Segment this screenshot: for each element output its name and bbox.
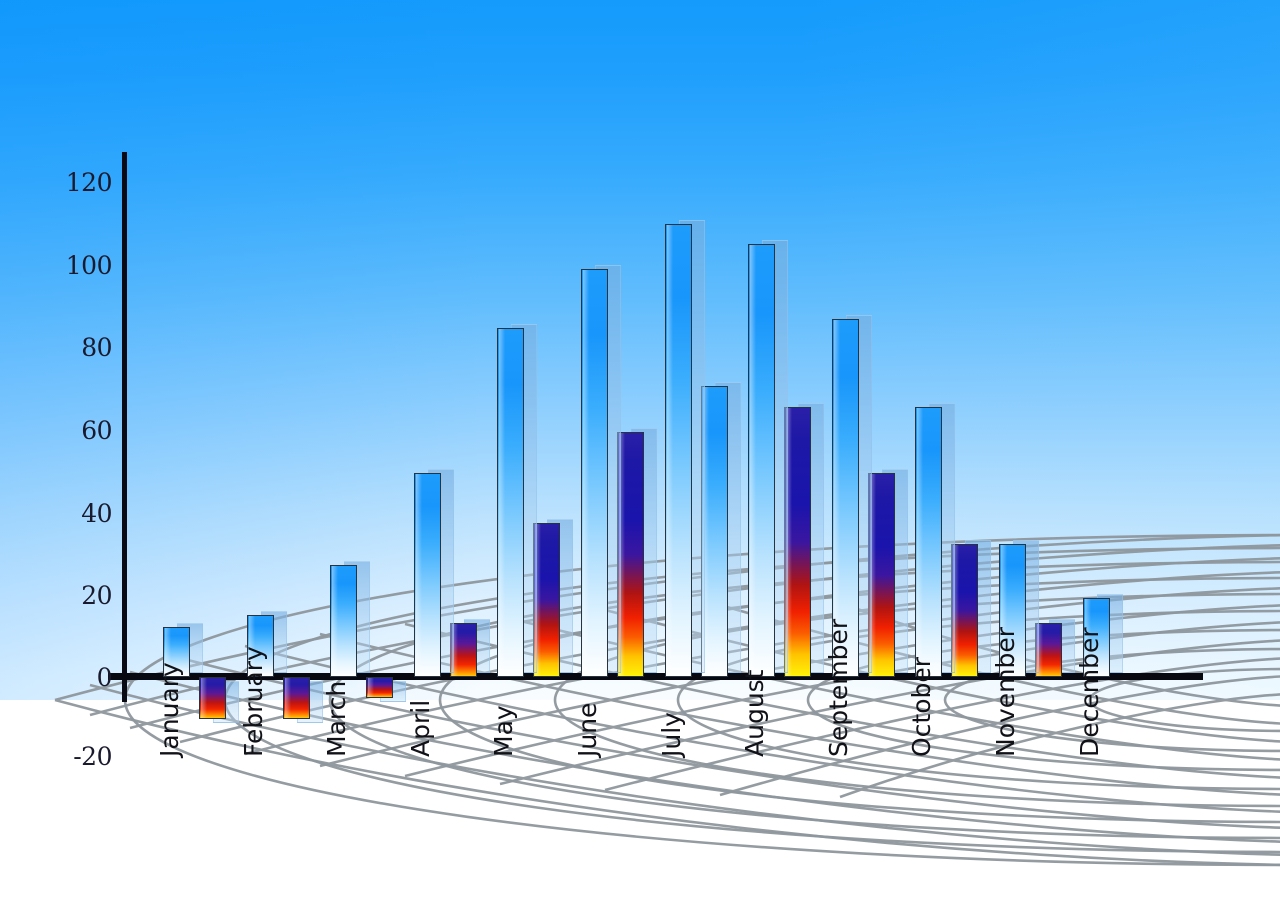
bar-highlight — [750, 245, 756, 676]
y-tick-label-100: 100 — [44, 251, 112, 280]
y-tick-label-120: 120 — [44, 168, 112, 197]
x-label-june: June — [573, 703, 602, 757]
bar-face — [665, 224, 692, 677]
bar-face — [701, 386, 728, 677]
bar-highlight — [285, 678, 291, 718]
bar-highlight — [583, 270, 589, 676]
x-label-november: November — [991, 627, 1020, 757]
x-label-january: January — [155, 662, 184, 757]
bar-highlight — [917, 408, 923, 676]
bar-highlight — [416, 474, 422, 676]
x-label-march: March — [322, 681, 351, 757]
y-tick-label-neg20: -20 — [44, 742, 112, 771]
bar-face — [1035, 623, 1062, 677]
x-label-december: December — [1075, 627, 1104, 757]
bar-face — [868, 473, 895, 677]
bar-face — [199, 677, 226, 719]
x-label-february: February — [239, 646, 268, 757]
bar-face — [414, 473, 441, 677]
chart-canvas: 120 100 80 60 40 20 0 -20 JanuaryFebruar… — [0, 0, 1280, 905]
plot-area: 120 100 80 60 40 20 0 -20 JanuaryFebruar… — [0, 0, 1280, 905]
bar-highlight — [667, 225, 673, 676]
x-label-october: October — [907, 657, 936, 757]
x-label-may: May — [489, 705, 518, 757]
bar-face — [366, 677, 393, 698]
bar-face — [784, 407, 811, 677]
bar-highlight — [499, 329, 505, 676]
x-label-september: September — [824, 619, 853, 757]
y-tick-label-0: 0 — [44, 663, 112, 692]
bar-face — [581, 269, 608, 677]
bar-face — [497, 328, 524, 677]
y-axis-ticks: 120 100 80 60 40 20 0 -20 — [0, 0, 112, 905]
y-tick-label-80: 80 — [44, 333, 112, 362]
bar-face — [450, 623, 477, 677]
y-axis-line — [122, 152, 127, 702]
bar-face — [748, 244, 775, 677]
bar-face — [283, 677, 310, 719]
x-label-july: July — [657, 712, 686, 757]
bar-highlight — [368, 678, 374, 697]
bar-highlight — [201, 678, 207, 718]
bar-face — [951, 544, 978, 677]
y-tick-label-20: 20 — [44, 581, 112, 610]
bar-highlight — [332, 566, 338, 676]
bar-face — [915, 407, 942, 677]
y-tick-label-40: 40 — [44, 499, 112, 528]
bar-face — [533, 523, 560, 677]
x-label-august: August — [740, 670, 769, 758]
x-label-april: April — [406, 700, 435, 757]
bar-face — [330, 565, 357, 677]
bar-face — [617, 432, 644, 677]
y-tick-label-60: 60 — [44, 416, 112, 445]
